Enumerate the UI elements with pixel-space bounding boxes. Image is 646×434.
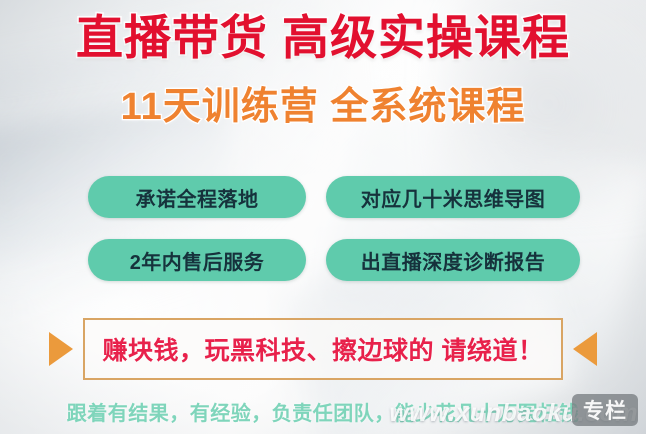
feature-pill-2: 对应几十米思维导图 xyxy=(326,176,580,218)
feature-pill-4: 出直播深度诊断报告 xyxy=(326,239,580,281)
tagline: 跟着有结果，有经验，负责任团队，能少花几十万冤枉钱 xyxy=(0,397,646,426)
column-badge: 专栏 xyxy=(572,394,638,426)
feature-pill-grid: 承诺全程落地 对应几十米思维导图 2年内售后服务 出直播深度诊断报告 xyxy=(88,176,580,281)
promo-banner: 直播带货 高级实操课程 11天训练营 全系统课程 承诺全程落地 对应几十米思维导… xyxy=(0,0,646,434)
warning-box: 赚块钱，玩黑科技、擦边球的 请绕道！ xyxy=(83,318,563,380)
banner-content: 直播带货 高级实操课程 11天训练营 全系统课程 承诺全程落地 对应几十米思维导… xyxy=(0,0,646,434)
triangle-right-icon xyxy=(49,332,73,366)
warning-row: 赚块钱，玩黑科技、擦边球的 请绕道！ xyxy=(0,318,646,380)
feature-pill-3: 2年内售后服务 xyxy=(88,239,306,281)
feature-pill-1: 承诺全程落地 xyxy=(88,176,306,218)
sub-title: 11天训练营 全系统课程 xyxy=(0,85,646,131)
triangle-left-icon xyxy=(573,332,597,366)
warning-text: 赚块钱，玩黑科技、擦边球的 请绕道！ xyxy=(103,331,544,367)
main-title: 直播带货 高级实操课程 xyxy=(0,10,646,65)
